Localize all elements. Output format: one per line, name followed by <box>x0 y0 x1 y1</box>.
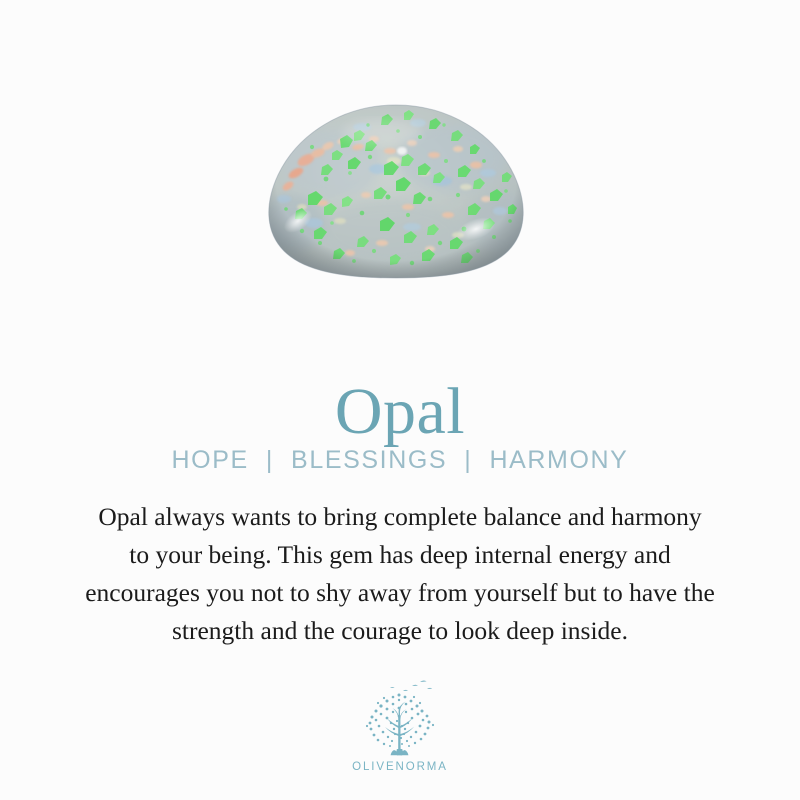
brand-wordmark: OLIVENORMA <box>352 761 448 773</box>
description-line: encourages you not to shy away from your… <box>22 574 778 612</box>
gemstone-info-card: Opal HOPE | BLESSINGS | HARMONY Opal alw… <box>0 0 800 800</box>
keyword-tagline: HOPE | BLESSINGS | HARMONY <box>0 446 800 475</box>
description-line: Opal always wants to bring complete bala… <box>22 498 778 536</box>
opal-gemstone-image <box>262 103 530 279</box>
description-line: to your being. This gem has deep interna… <box>22 536 778 574</box>
brand-logo: OLIVENORMA <box>0 678 800 773</box>
description-line: strength and the courage to look deep in… <box>22 612 778 650</box>
description-text: Opal always wants to bring complete bala… <box>22 498 778 650</box>
tree-logo-icon <box>357 678 443 760</box>
page-title: Opal <box>0 377 800 447</box>
